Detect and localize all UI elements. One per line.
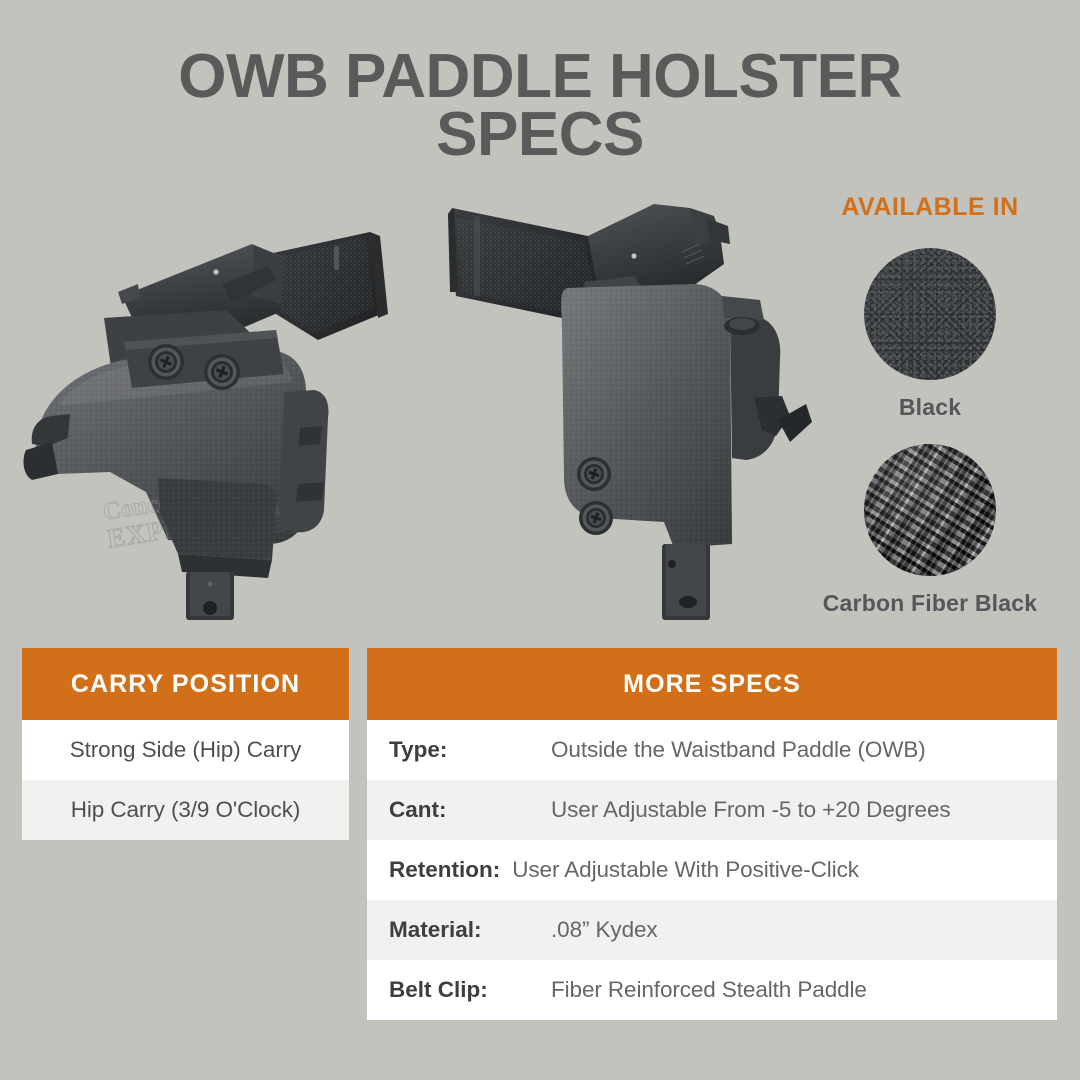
spec-label: Material:	[389, 917, 539, 943]
spec-value: .08” Kydex	[551, 917, 658, 943]
swatch-label-black: Black	[790, 394, 1070, 421]
infographic-page: OWB PADDLE HOLSTER SPECS	[0, 0, 1080, 1080]
carry-position-value: Hip Carry (3/9 O'Clock)	[71, 797, 301, 823]
table-row: Belt Clip: Fiber Reinforced Stealth Padd…	[367, 960, 1057, 1020]
spec-label: Type:	[389, 737, 539, 763]
swatch-label-carbon-fiber: Carbon Fiber Black	[790, 590, 1070, 617]
spec-value: Fiber Reinforced Stealth Paddle	[551, 977, 867, 1003]
table-row: Retention: User Adjustable With Positive…	[367, 840, 1057, 900]
table-row: Strong Side (Hip) Carry	[22, 720, 349, 780]
table-row: Hip Carry (3/9 O'Clock)	[22, 780, 349, 840]
holster-front-view-image: Concealment EXPRESS	[18, 192, 428, 622]
available-in-label: AVAILABLE IN	[790, 193, 1070, 222]
swatch-option-carbon-fiber[interactable]: Carbon Fiber Black	[790, 444, 1070, 617]
table-row: Type: Outside the Waistband Paddle (OWB)	[367, 720, 1057, 780]
spec-label: Retention:	[389, 857, 500, 883]
texture-swatch-carbon-fiber-icon	[864, 444, 996, 576]
carry-position-table: CARRY POSITION Strong Side (Hip) Carry H…	[22, 648, 349, 840]
page-title-line2: SPECS	[0, 106, 1080, 164]
page-title: OWB PADDLE HOLSTER SPECS	[0, 48, 1080, 163]
carry-position-table-header: CARRY POSITION	[22, 648, 349, 720]
carry-position-value: Strong Side (Hip) Carry	[70, 737, 302, 763]
spec-value: User Adjustable From -5 to +20 Degrees	[551, 797, 951, 823]
table-row: Cant: User Adjustable From -5 to +20 Deg…	[367, 780, 1057, 840]
texture-swatch-black-icon	[864, 248, 996, 380]
spec-value: User Adjustable With Positive-Click	[512, 857, 859, 883]
spec-label: Belt Clip:	[389, 977, 539, 1003]
more-specs-table: MORE SPECS Type: Outside the Waistband P…	[367, 648, 1057, 1020]
holster-back-view-image	[438, 192, 828, 622]
spec-value: Outside the Waistband Paddle (OWB)	[551, 737, 926, 763]
spec-label: Cant:	[389, 797, 539, 823]
more-specs-table-header: MORE SPECS	[367, 648, 1057, 720]
swatch-option-black[interactable]: Black	[790, 248, 1070, 421]
table-row: Material: .08” Kydex	[367, 900, 1057, 960]
